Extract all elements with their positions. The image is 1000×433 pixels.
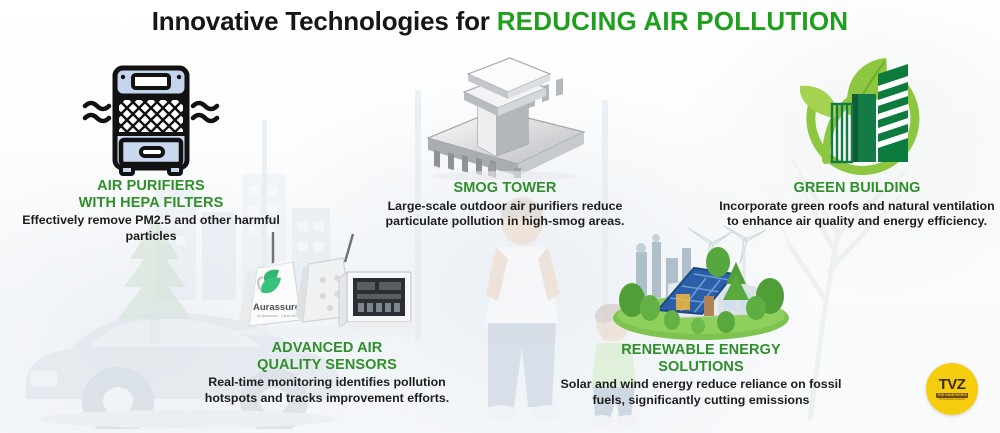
card-renewable-heading-line2: SOLUTIONS xyxy=(658,359,744,375)
card-sensors-heading: ADVANCED AIR QUALITY SENSORS xyxy=(184,340,470,373)
green-building-icon xyxy=(782,52,932,180)
card-sensors-heading-line1: ADVANCED AIR xyxy=(272,340,383,356)
card-sensors-heading-line2: QUALITY SENSORS xyxy=(257,357,397,373)
svg-text:by Aurassure · Clean Air: by Aurassure · Clean Air xyxy=(257,314,297,318)
card-smog-tower-heading: SMOG TOWER xyxy=(372,180,638,197)
card-renewable-heading-line1: RENEWABLE ENERGY xyxy=(621,342,781,358)
page-title-highlight: REDUCING AIR POLLUTION xyxy=(497,6,849,36)
brand-logo-tagline: Technologies Ventures xyxy=(939,398,965,401)
page-title: Innovative Technologies for REDUCING AIR… xyxy=(0,6,1000,37)
page-title-plain: Innovative Technologies for xyxy=(152,6,497,36)
brand-logo-badge[interactable]: TVZ THE NAMDHARIS Technologies Ventures xyxy=(926,363,978,415)
card-sensors-body: Real-time monitoring identifies pollutio… xyxy=(184,375,470,406)
brand-logo-name: THE NAMDHARIS xyxy=(936,393,969,398)
card-green-building-heading: GREEN BUILDING xyxy=(714,180,1000,197)
sensor-brand-label: Aurassure xyxy=(253,302,300,313)
renewable-energy-art xyxy=(606,222,796,342)
air-purifier-icon xyxy=(71,58,231,178)
air-quality-sensor-art: Aurassure by Aurassure · Clean Air xyxy=(227,228,427,340)
card-air-purifier: AIR PURIFIERS WITH HEPA FILTERS Effectiv… xyxy=(8,58,294,244)
card-sensors: Aurassure by Aurassure · Clean Air xyxy=(184,228,470,406)
renewable-energy-icon xyxy=(606,222,796,342)
card-renewable: RENEWABLE ENERGY SOLUTIONS Solar and win… xyxy=(558,222,844,408)
brand-logo-mark: TVZ xyxy=(939,377,966,392)
card-smog-tower: SMOG TOWER Large-scale outdoor air purif… xyxy=(372,52,638,230)
card-air-purifier-heading-line1: AIR PURIFIERS xyxy=(97,178,205,194)
card-air-purifier-heading-line2: WITH HEPA FILTERS xyxy=(79,195,224,211)
green-building-art xyxy=(782,52,932,180)
card-air-purifier-heading: AIR PURIFIERS WITH HEPA FILTERS xyxy=(8,178,294,211)
card-renewable-heading: RENEWABLE ENERGY SOLUTIONS xyxy=(558,342,844,375)
air-purifier-art xyxy=(71,58,231,178)
card-green-building: GREEN BUILDING Incorporate green roofs a… xyxy=(714,52,1000,230)
infographic-canvas: Innovative Technologies for REDUCING AIR… xyxy=(0,0,1000,433)
card-renewable-body: Solar and wind energy reduce reliance on… xyxy=(558,377,844,408)
air-quality-sensor-icon: Aurassure by Aurassure · Clean Air xyxy=(227,228,427,340)
smog-tower-art xyxy=(410,52,600,180)
smog-tower-icon xyxy=(410,52,600,180)
